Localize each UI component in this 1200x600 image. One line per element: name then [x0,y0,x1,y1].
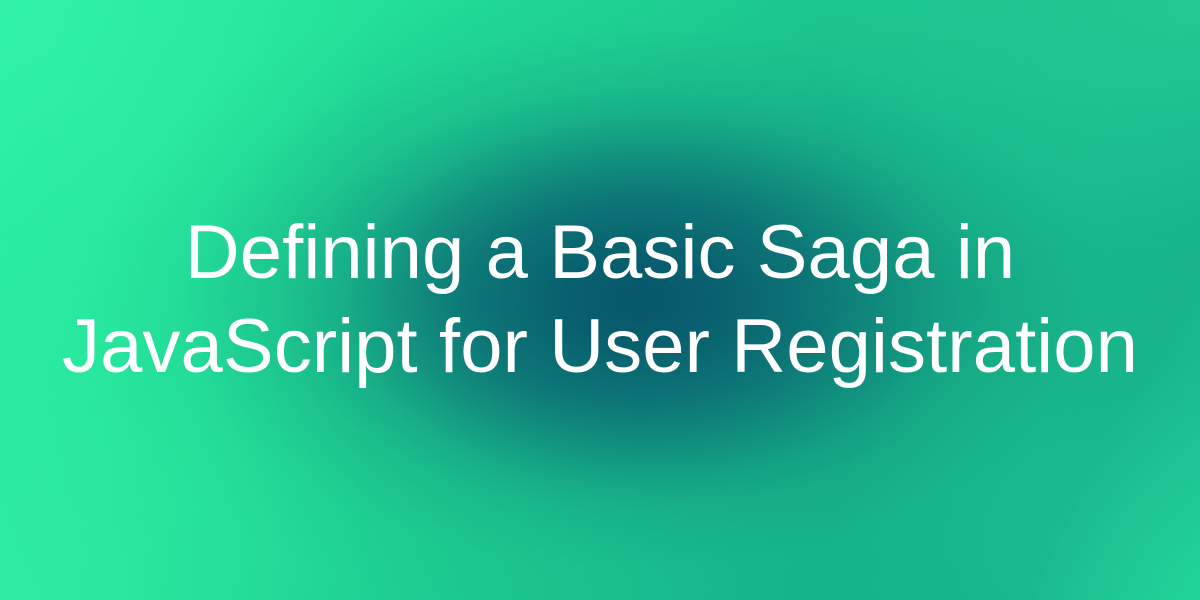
banner-title-line-1: Defining a Basic Saga in [185,206,1015,300]
hero-banner: Defining a Basic Saga in JavaScript for … [0,0,1200,600]
banner-title: Defining a Basic Saga in JavaScript for … [0,0,1200,600]
banner-title-line-2: JavaScript for User Registration [62,300,1138,394]
